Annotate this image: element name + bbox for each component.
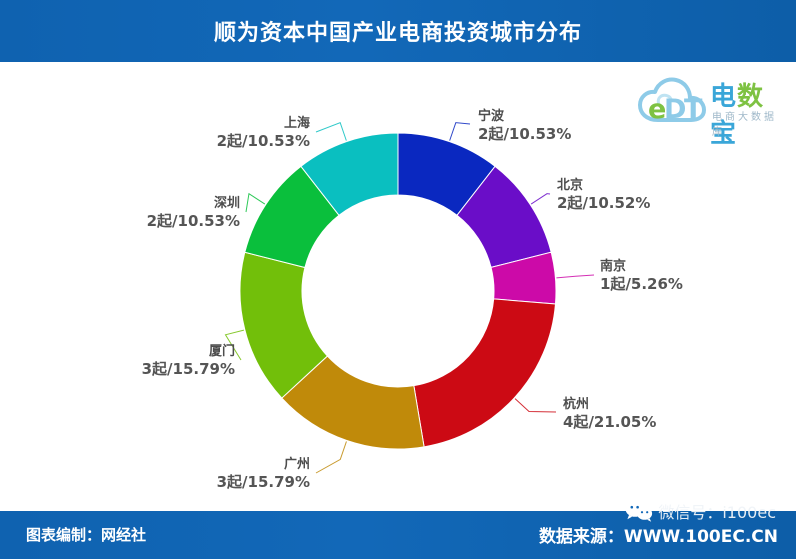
slice-label-nanjing-name: 南京 — [600, 259, 683, 275]
slice-label-guangzhou-name: 广州 — [180, 457, 310, 473]
slice-label-shenzhen-name: 深圳 — [110, 196, 240, 212]
slice-label-hangzhou: 杭州 4起/21.05% — [563, 397, 656, 432]
leader-line-北京 — [531, 194, 550, 204]
donut-slices — [240, 133, 556, 449]
slice-label-ningbo-value: 2起/10.53% — [478, 125, 571, 144]
slice-label-shanghai-name: 上海 — [180, 116, 310, 132]
data-source: 数据来源：WWW.100EC.CN — [539, 522, 778, 547]
wechat-icon — [624, 499, 654, 523]
leader-line-上海 — [316, 123, 346, 141]
leader-line-宁波 — [450, 123, 470, 141]
wechat-id-text: 微信号：i100ec — [658, 499, 776, 523]
slice-label-guangzhou-value: 3起/15.79% — [180, 473, 310, 492]
slice-label-beijing: 北京 2起/10.52% — [557, 178, 650, 213]
slice-label-shenzhen-value: 2起/10.53% — [110, 212, 240, 231]
donut-slice-杭州[interactable] — [414, 299, 556, 447]
footer-bar: 图表编制：网经社 微信号：i100ec 数据来源：WWW.100EC.CN — [0, 511, 796, 559]
infographic-canvas: 顺为资本中国产业电商投资城市分布 e D T 电数宝 电商大数据库 宁波 2起/… — [0, 0, 796, 559]
slice-label-hangzhou-value: 4起/21.05% — [563, 413, 656, 432]
header-bar: 顺为资本中国产业电商投资城市分布 — [0, 0, 796, 62]
slice-label-guangzhou: 广州 3起/15.79% — [180, 457, 310, 492]
slice-label-shanghai: 上海 2起/10.53% — [180, 116, 310, 151]
slice-label-ningbo-name: 宁波 — [478, 109, 571, 125]
slice-label-nanjing: 南京 1起/5.26% — [600, 259, 683, 294]
leader-line-杭州 — [515, 399, 556, 412]
slice-label-beijing-name: 北京 — [557, 178, 650, 194]
slice-label-xiamen-value: 3起/15.79% — [105, 360, 235, 379]
slice-label-shenzhen: 深圳 2起/10.53% — [110, 196, 240, 231]
leader-line-广州 — [316, 441, 346, 473]
wechat-badge: 微信号：i100ec — [624, 499, 776, 523]
slice-label-shanghai-value: 2起/10.53% — [180, 132, 310, 151]
slice-label-beijing-value: 2起/10.52% — [557, 194, 650, 213]
page-title: 顺为资本中国产业电商投资城市分布 — [214, 15, 582, 47]
slice-label-nanjing-value: 1起/5.26% — [600, 275, 683, 294]
slice-label-hangzhou-name: 杭州 — [563, 397, 656, 413]
chart-credit: 图表编制：网经社 — [26, 524, 146, 545]
slice-label-ningbo: 宁波 2起/10.53% — [478, 109, 571, 144]
slice-label-xiamen-name: 厦门 — [105, 344, 235, 360]
slice-label-xiamen: 厦门 3起/15.79% — [105, 344, 235, 379]
donut-chart: 宁波 2起/10.53% 北京 2起/10.52% 南京 1起/5.26% 杭州… — [0, 62, 796, 511]
leader-line-南京 — [556, 275, 594, 278]
